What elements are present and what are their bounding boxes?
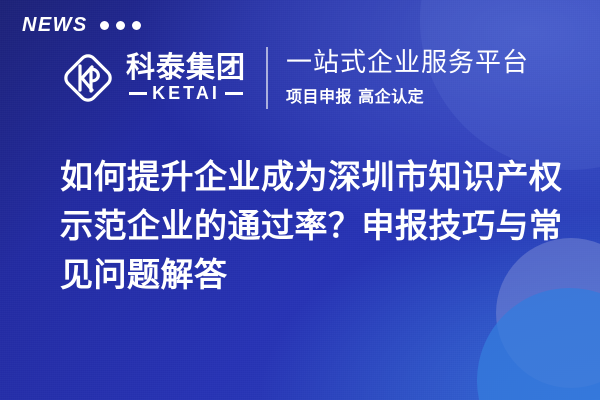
slogan-block: 一站式企业服务平台 项目申报 高企认定 xyxy=(286,49,529,106)
slogan-main: 一站式企业服务平台 xyxy=(286,49,529,78)
logo-name-cn: 科泰集团 xyxy=(126,52,246,82)
news-banner: NEWS 科泰集团 KETAI xyxy=(0,0,600,400)
brand-divider xyxy=(266,47,268,109)
decorative-circle-bright xyxy=(477,288,600,400)
headline: 如何提升企业成为深圳市知识产权 示范企业的通过率？申报技巧与常 见问题解答 xyxy=(60,152,560,299)
brand-row: 科泰集团 KETAI 一站式企业服务平台 项目申报 高企认定 xyxy=(58,42,529,114)
news-dot-3 xyxy=(132,21,141,30)
slogan-sub: 项目申报 高企认定 xyxy=(286,83,529,107)
news-label: NEWS xyxy=(22,14,88,37)
logo-name-en: KETAI xyxy=(152,83,220,104)
ketai-diamond-monogram-icon xyxy=(58,48,118,108)
logo-en-row: KETAI xyxy=(129,83,243,104)
news-dot-1 xyxy=(100,21,109,30)
logo-rule-left xyxy=(129,92,147,95)
news-dot-2 xyxy=(116,21,125,30)
headline-line-1: 如何提升企业成为深圳市知识产权 xyxy=(60,152,560,201)
headline-line-3: 见问题解答 xyxy=(60,250,560,299)
headline-line-2: 示范企业的通过率？申报技巧与常 xyxy=(60,201,560,250)
logo-wordmark: 科泰集团 KETAI xyxy=(126,52,246,104)
news-dots-icon xyxy=(100,21,141,30)
logo-rule-right xyxy=(225,92,243,95)
news-tag: NEWS xyxy=(22,14,141,37)
